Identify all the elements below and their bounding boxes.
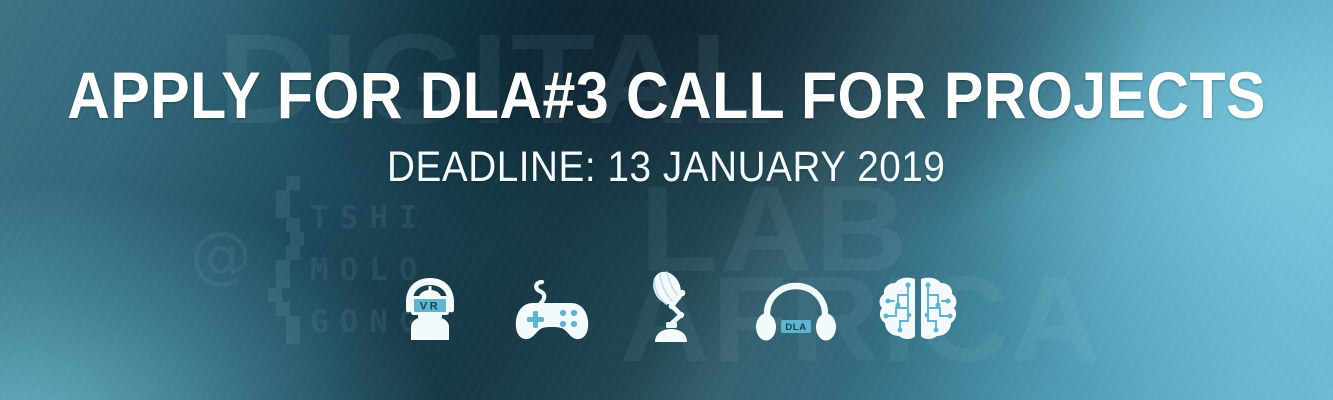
page-title: APPLY FOR DLA#3 CALL FOR PROJECTS — [67, 62, 1266, 128]
vr-visor-label: VR — [419, 300, 439, 312]
deadline-label: DEADLINE: 13 JANUARY 2019 — [387, 146, 945, 189]
ai-brain-icon — [875, 268, 961, 344]
headphones-icon: DLA — [753, 268, 839, 344]
microphone-icon — [631, 268, 717, 344]
headphones-dla-label: DLA — [785, 322, 806, 333]
theme-icon-row: VR — [0, 268, 1333, 344]
vr-headset-icon: VR — [387, 268, 473, 344]
dla-call-for-projects-banner: DIGITAL LAB AFRICA @ TSHI MOLO GONG — [0, 0, 1333, 400]
gamepad-icon — [509, 268, 595, 344]
